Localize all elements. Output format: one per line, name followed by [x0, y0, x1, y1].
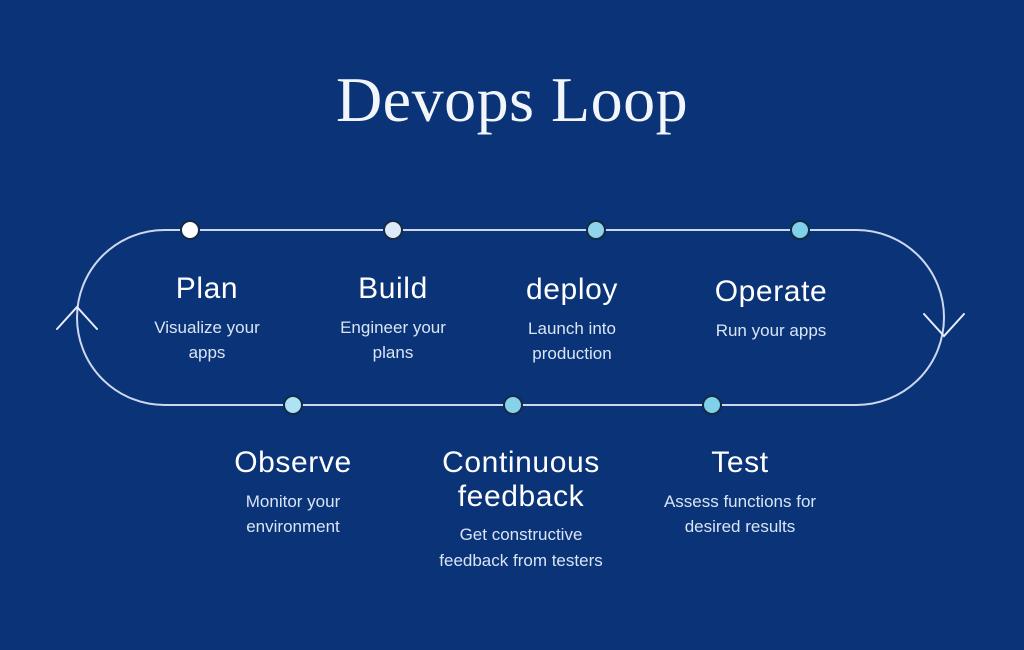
stage-observe[interactable]: ObserveMonitor yourenvironment: [206, 446, 381, 540]
stage-title-operate: Operate: [681, 275, 861, 309]
stage-deploy[interactable]: deployLaunch intoproduction: [492, 273, 652, 367]
stage-description-plan: Visualize yourapps: [127, 315, 287, 367]
stage-title-build: Build: [311, 272, 476, 306]
stage-description-build: Engineer yourplans: [311, 315, 476, 367]
left-arrow-head-icon: [57, 307, 97, 329]
stage-title-deploy: deploy: [492, 273, 652, 307]
stage-dot-operate[interactable]: [790, 220, 810, 240]
stage-operate[interactable]: OperateRun your apps: [681, 275, 861, 343]
stage-dot-plan[interactable]: [180, 220, 200, 240]
stage-continuous-feedback[interactable]: Continuous feedbackGet constructivefeedb…: [401, 446, 641, 574]
stage-title-continuous-feedback: Continuous feedback: [401, 446, 641, 513]
stage-test[interactable]: TestAssess functions fordesired results: [620, 446, 860, 540]
stage-dot-continuous-feedback[interactable]: [503, 395, 523, 415]
stage-title-plan: Plan: [127, 272, 287, 306]
stage-description-observe: Monitor yourenvironment: [206, 489, 381, 541]
stage-description-continuous-feedback: Get constructivefeedback from testers: [401, 522, 641, 574]
stage-title-test: Test: [620, 446, 860, 480]
right-arrow-head-icon: [924, 314, 964, 336]
stage-dot-build[interactable]: [383, 220, 403, 240]
stage-description-test: Assess functions fordesired results: [620, 489, 860, 541]
page-title: Devops Loop: [0, 68, 1024, 132]
stage-description-operate: Run your apps: [681, 318, 861, 344]
stage-title-observe: Observe: [206, 446, 381, 480]
stage-plan[interactable]: PlanVisualize yourapps: [127, 272, 287, 366]
stage-dot-test[interactable]: [702, 395, 722, 415]
stage-description-deploy: Launch intoproduction: [492, 316, 652, 368]
stage-dot-deploy[interactable]: [586, 220, 606, 240]
infographic-canvas: Devops Loop PlanVisualize yourappsBuildE…: [0, 0, 1024, 650]
stage-dot-observe[interactable]: [283, 395, 303, 415]
stage-build[interactable]: BuildEngineer yourplans: [311, 272, 476, 366]
